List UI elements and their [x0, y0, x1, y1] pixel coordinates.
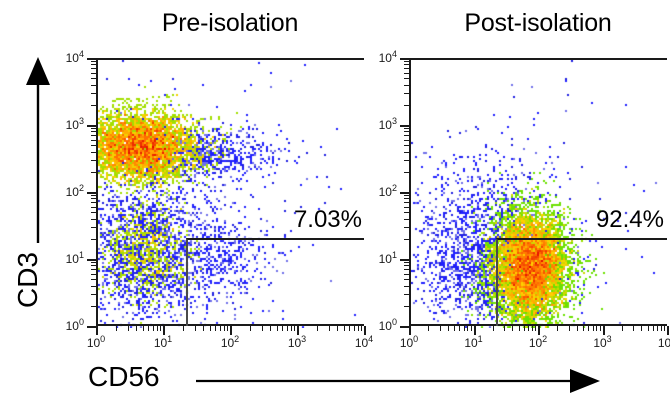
y-tick-minor — [404, 294, 409, 295]
y-tick-label: 102 — [58, 186, 84, 198]
gate-rect-post[interactable] — [496, 238, 667, 326]
y-tick-label: 103 — [58, 119, 84, 131]
y-tick-minor — [91, 128, 96, 129]
x-tick-minor — [358, 326, 359, 331]
x-arrow-svg — [196, 368, 602, 394]
x-tick-minor — [277, 326, 278, 331]
y-tick-minor — [404, 274, 409, 275]
x-tick-minor — [569, 326, 570, 331]
x-tick-minor — [349, 326, 350, 331]
x-tick-minor — [467, 326, 468, 331]
x-tick-minor — [136, 326, 137, 331]
x-tick-major — [409, 326, 411, 335]
x-tick-minor — [262, 326, 263, 331]
x-tick-minor — [210, 326, 211, 331]
y-tick-minor — [404, 172, 409, 173]
y-tick-minor — [91, 279, 96, 280]
y-tick-minor — [91, 286, 96, 287]
y-tick-minor — [91, 269, 96, 270]
y-tick-major — [87, 192, 96, 194]
y-tick-minor — [404, 145, 409, 146]
x-tick-minor — [337, 326, 338, 331]
x-tick-minor — [524, 326, 525, 331]
x-tick-minor — [440, 326, 441, 331]
y-tick-minor — [91, 152, 96, 153]
y-tick-minor — [404, 219, 409, 220]
x-tick-minor — [464, 326, 465, 331]
y-tick-minor — [404, 128, 409, 129]
y-tick-label: 100 — [371, 320, 397, 332]
x-tick-minor — [157, 326, 158, 331]
x-tick-minor — [203, 326, 204, 331]
x-tick-minor — [344, 326, 345, 331]
x-tick-minor — [641, 326, 642, 331]
y-tick-minor — [91, 64, 96, 65]
x-tick-minor — [622, 326, 623, 331]
y-tick-minor — [91, 68, 96, 69]
y-tick-major — [87, 326, 96, 328]
x-tick-minor — [528, 326, 529, 331]
x-tick-minor — [577, 326, 578, 331]
gate-percent-post: 92.4% — [540, 207, 664, 233]
x-axis-label: CD56 — [88, 360, 160, 394]
x-tick-minor — [294, 326, 295, 331]
x-tick-minor — [532, 326, 533, 331]
gate-percent-pre: 7.03% — [226, 207, 362, 233]
y-tick-minor — [91, 265, 96, 266]
x-tick-minor — [291, 326, 292, 331]
x-tick-minor — [661, 326, 662, 331]
x-tick-minor — [512, 326, 513, 331]
x-tick-minor — [633, 326, 634, 331]
x-tick-minor — [160, 326, 161, 331]
y-tick-minor — [404, 135, 409, 136]
x-tick-major — [297, 326, 299, 335]
x-tick-minor — [600, 326, 601, 331]
y-tick-minor — [91, 198, 96, 199]
y-tick-minor — [91, 262, 96, 263]
x-tick-minor — [329, 326, 330, 331]
x-tick-major — [603, 326, 605, 335]
y-tick-major — [400, 125, 409, 127]
x-tick-minor — [153, 326, 154, 331]
y-tick-minor — [91, 207, 96, 208]
y-tick-label: 100 — [58, 320, 84, 332]
y-tick-major — [87, 259, 96, 261]
x-tick-minor — [593, 326, 594, 331]
y-tick-minor — [91, 227, 96, 228]
y-tick-label: 104 — [58, 52, 84, 64]
y-tick-minor — [91, 78, 96, 79]
x-tick-minor — [215, 326, 216, 331]
x-tick-major — [474, 326, 476, 335]
x-tick-minor — [227, 326, 228, 331]
y-tick-minor — [404, 207, 409, 208]
panel-title-post: Post-isolation — [409, 8, 667, 38]
x-tick-minor — [648, 326, 649, 331]
y-tick-minor — [91, 61, 96, 62]
y-tick-minor — [404, 306, 409, 307]
y-tick-minor — [404, 85, 409, 86]
x-tick-minor — [250, 326, 251, 331]
x-axis-arrow — [196, 368, 602, 399]
x-tick-minor — [183, 326, 184, 331]
x-tick-minor — [220, 326, 221, 331]
x-tick-major — [96, 326, 98, 335]
x-tick-minor — [282, 326, 283, 331]
x-tick-minor — [657, 326, 658, 331]
y-tick-minor — [91, 306, 96, 307]
gate-rect-pre[interactable] — [186, 238, 364, 326]
y-tick-minor — [404, 262, 409, 263]
x-tick-label: 104 — [652, 337, 670, 349]
y-tick-major — [400, 259, 409, 261]
y-tick-minor — [91, 73, 96, 74]
y-tick-minor — [91, 140, 96, 141]
y-tick-minor — [91, 212, 96, 213]
x-tick-major — [538, 326, 540, 335]
y-tick-minor — [404, 212, 409, 213]
y-tick-minor — [404, 227, 409, 228]
y-tick-minor — [404, 61, 409, 62]
x-tick-minor — [361, 326, 362, 331]
y-tick-minor — [404, 202, 409, 203]
y-tick-minor — [404, 68, 409, 69]
x-tick-label: 103 — [282, 337, 312, 349]
x-tick-minor — [596, 326, 597, 331]
y-tick-minor — [404, 198, 409, 199]
y-tick-major — [400, 326, 409, 328]
x-tick-minor — [148, 326, 149, 331]
y-tick-major — [87, 58, 96, 60]
y-tick-minor — [404, 93, 409, 94]
y-tick-minor — [404, 195, 409, 196]
x-tick-label: 101 — [148, 337, 178, 349]
y-tick-major — [87, 125, 96, 127]
x-tick-minor — [224, 326, 225, 331]
y-tick-label: 101 — [371, 253, 397, 265]
y-tick-minor — [91, 105, 96, 106]
x-tick-minor — [270, 326, 271, 331]
y-axis-arrow — [24, 55, 52, 250]
y-tick-minor — [404, 269, 409, 270]
x-tick-minor — [588, 326, 589, 331]
x-tick-minor — [195, 326, 196, 331]
y-tick-minor — [91, 294, 96, 295]
y-tick-minor — [91, 145, 96, 146]
y-tick-label: 101 — [58, 253, 84, 265]
y-tick-minor — [91, 160, 96, 161]
y-tick-major — [400, 192, 409, 194]
y-tick-minor — [91, 239, 96, 240]
x-tick-minor — [471, 326, 472, 331]
x-tick-major — [667, 326, 669, 335]
x-tick-minor — [287, 326, 288, 331]
x-tick-label: 102 — [523, 337, 553, 349]
x-tick-major — [230, 326, 232, 335]
x-tick-minor — [454, 326, 455, 331]
x-tick-minor — [317, 326, 318, 331]
x-tick-minor — [653, 326, 654, 331]
x-tick-minor — [535, 326, 536, 331]
y-axis-label: CD3 — [10, 230, 46, 330]
x-tick-label: 102 — [215, 337, 245, 349]
y-tick-minor — [91, 172, 96, 173]
y-tick-minor — [91, 195, 96, 196]
y-tick-minor — [91, 85, 96, 86]
x-tick-label: 104 — [349, 337, 379, 349]
y-tick-minor — [91, 202, 96, 203]
y-tick-minor — [91, 219, 96, 220]
x-tick-major — [163, 326, 165, 335]
x-tick-minor — [519, 326, 520, 331]
y-tick-major — [400, 58, 409, 60]
x-tick-label: 103 — [588, 337, 618, 349]
y-arrow-svg — [24, 55, 52, 245]
x-tick-minor — [504, 326, 505, 331]
x-tick-minor — [664, 326, 665, 331]
x-tick-label: 100 — [394, 337, 424, 349]
x-tick-minor — [354, 326, 355, 331]
y-tick-minor — [404, 286, 409, 287]
y-tick-minor — [404, 265, 409, 266]
x-tick-minor — [459, 326, 460, 331]
y-tick-minor — [404, 279, 409, 280]
panel-title-pre: Pre-isolation — [96, 8, 364, 38]
y-tick-minor — [91, 131, 96, 132]
y-tick-minor — [91, 93, 96, 94]
x-tick-label: 100 — [81, 337, 111, 349]
y-tick-minor — [404, 78, 409, 79]
y-tick-minor — [404, 140, 409, 141]
x-tick-minor — [493, 326, 494, 331]
x-tick-label: 101 — [459, 337, 489, 349]
figure-root: CD3 CD56 Pre-isolation Post-isolation 10… — [0, 0, 670, 410]
y-tick-minor — [91, 135, 96, 136]
y-tick-label: 103 — [371, 119, 397, 131]
y-tick-minor — [404, 73, 409, 74]
x-tick-minor — [428, 326, 429, 331]
y-tick-label: 102 — [371, 186, 397, 198]
y-tick-minor — [404, 131, 409, 132]
y-tick-minor — [404, 64, 409, 65]
x-tick-minor — [583, 326, 584, 331]
y-tick-minor — [404, 152, 409, 153]
x-tick-minor — [557, 326, 558, 331]
x-tick-major — [364, 326, 366, 335]
y-tick-label: 104 — [371, 52, 397, 64]
x-tick-minor — [448, 326, 449, 331]
x-tick-minor — [116, 326, 117, 331]
y-tick-minor — [404, 239, 409, 240]
y-tick-minor — [404, 160, 409, 161]
y-tick-minor — [404, 105, 409, 106]
y-tick-minor — [91, 274, 96, 275]
x-tick-minor — [128, 326, 129, 331]
x-tick-minor — [143, 326, 144, 331]
